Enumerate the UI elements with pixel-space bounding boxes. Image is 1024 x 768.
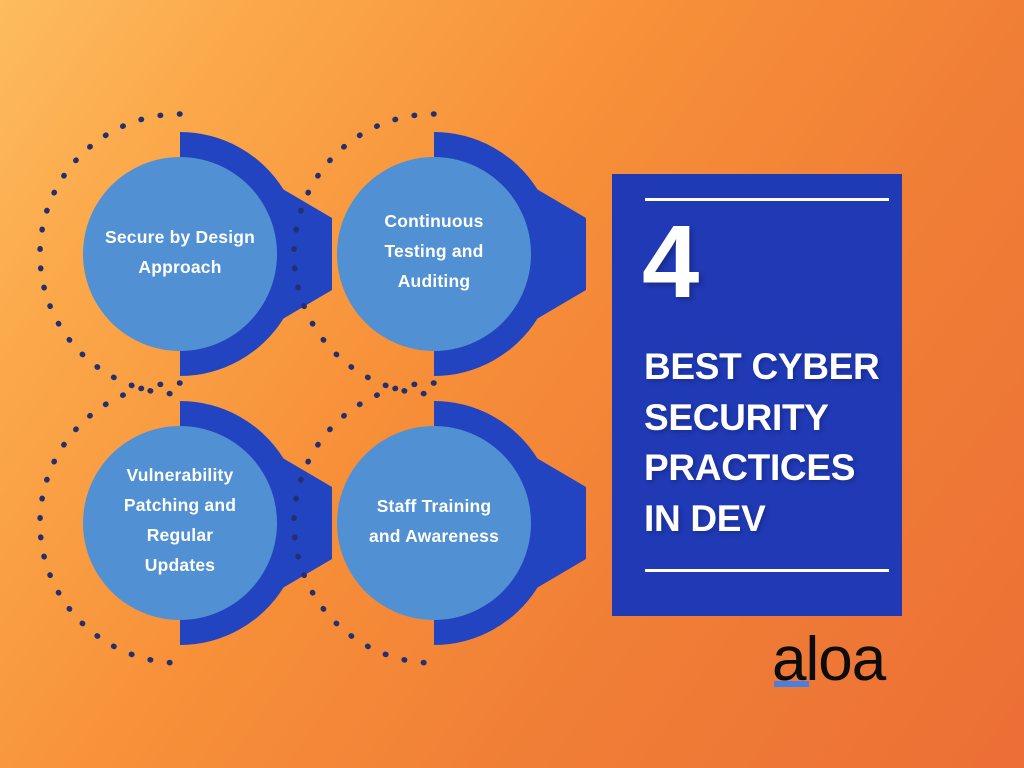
divider-top <box>645 198 889 201</box>
infographic-poster: Secure by Design Approach Continuous Tes… <box>0 0 1024 768</box>
diagram-canvas <box>0 0 620 768</box>
divider-bottom <box>645 569 889 572</box>
node-circle <box>83 157 277 351</box>
node-continuous-testing[interactable] <box>294 114 586 394</box>
node-circle <box>83 426 277 620</box>
node-staff-training[interactable] <box>294 383 586 663</box>
title-panel: 4 BEST CYBER SECURITY PRACTICES IN DEV <box>612 174 902 616</box>
node-secure-by-design[interactable] <box>40 114 332 394</box>
node-circle <box>337 157 531 351</box>
node-circle <box>337 426 531 620</box>
node-vulnerability-patching[interactable] <box>40 383 332 663</box>
headline-number: 4 <box>642 210 697 313</box>
headline-text: BEST CYBER SECURITY PRACTICES IN DEV <box>644 342 896 545</box>
aloa-logo[interactable]: aloa <box>772 629 912 693</box>
logo-accent-underline <box>774 681 809 687</box>
process-diagram: Secure by Design Approach Continuous Tes… <box>0 0 620 768</box>
